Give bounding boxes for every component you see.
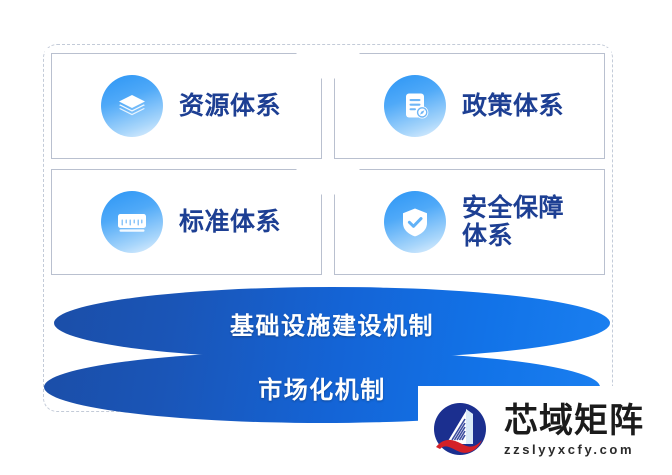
document-badge-icon xyxy=(384,75,446,137)
card-policy-system[interactable]: 政策体系 xyxy=(328,48,611,164)
watermark: 芯域矩阵 zzslyyxcfy.com xyxy=(418,386,672,475)
watermark-title: 芯域矩阵 xyxy=(504,404,644,440)
card-resource-system-label: 资源体系 xyxy=(179,92,281,121)
band-market-mechanism-label: 市场化机制 xyxy=(258,370,386,405)
card-resource-system-content: 资源体系 xyxy=(75,75,281,137)
card-policy-system-content: 政策体系 xyxy=(358,75,564,137)
card-standard-system-content: 标准体系 xyxy=(75,191,281,253)
band-infrastructure-mechanism[interactable]: 基础设施建设机制 xyxy=(54,287,610,359)
card-security-system-label: 安全保障 体系 xyxy=(462,194,564,251)
system-card-grid: 资源体系 政策体系 xyxy=(45,48,611,280)
card-resource-system[interactable]: 资源体系 xyxy=(45,48,328,164)
ruler-icon xyxy=(101,191,163,253)
card-standard-system-label: 标准体系 xyxy=(179,208,281,237)
shield-check-icon xyxy=(384,191,446,253)
card-policy-system-label: 政策体系 xyxy=(462,92,564,121)
card-standard-system[interactable]: 标准体系 xyxy=(45,164,328,280)
card-security-system[interactable]: 安全保障 体系 xyxy=(328,164,611,280)
card-security-system-content: 安全保障 体系 xyxy=(358,191,564,253)
watermark-url: zzslyyxcfy.com xyxy=(504,442,644,457)
watermark-logo-icon xyxy=(426,397,494,465)
band-infrastructure-mechanism-label: 基础设施建设机制 xyxy=(230,306,434,341)
watermark-text: 芯域矩阵 zzslyyxcfy.com xyxy=(504,404,644,458)
layers-icon xyxy=(101,75,163,137)
